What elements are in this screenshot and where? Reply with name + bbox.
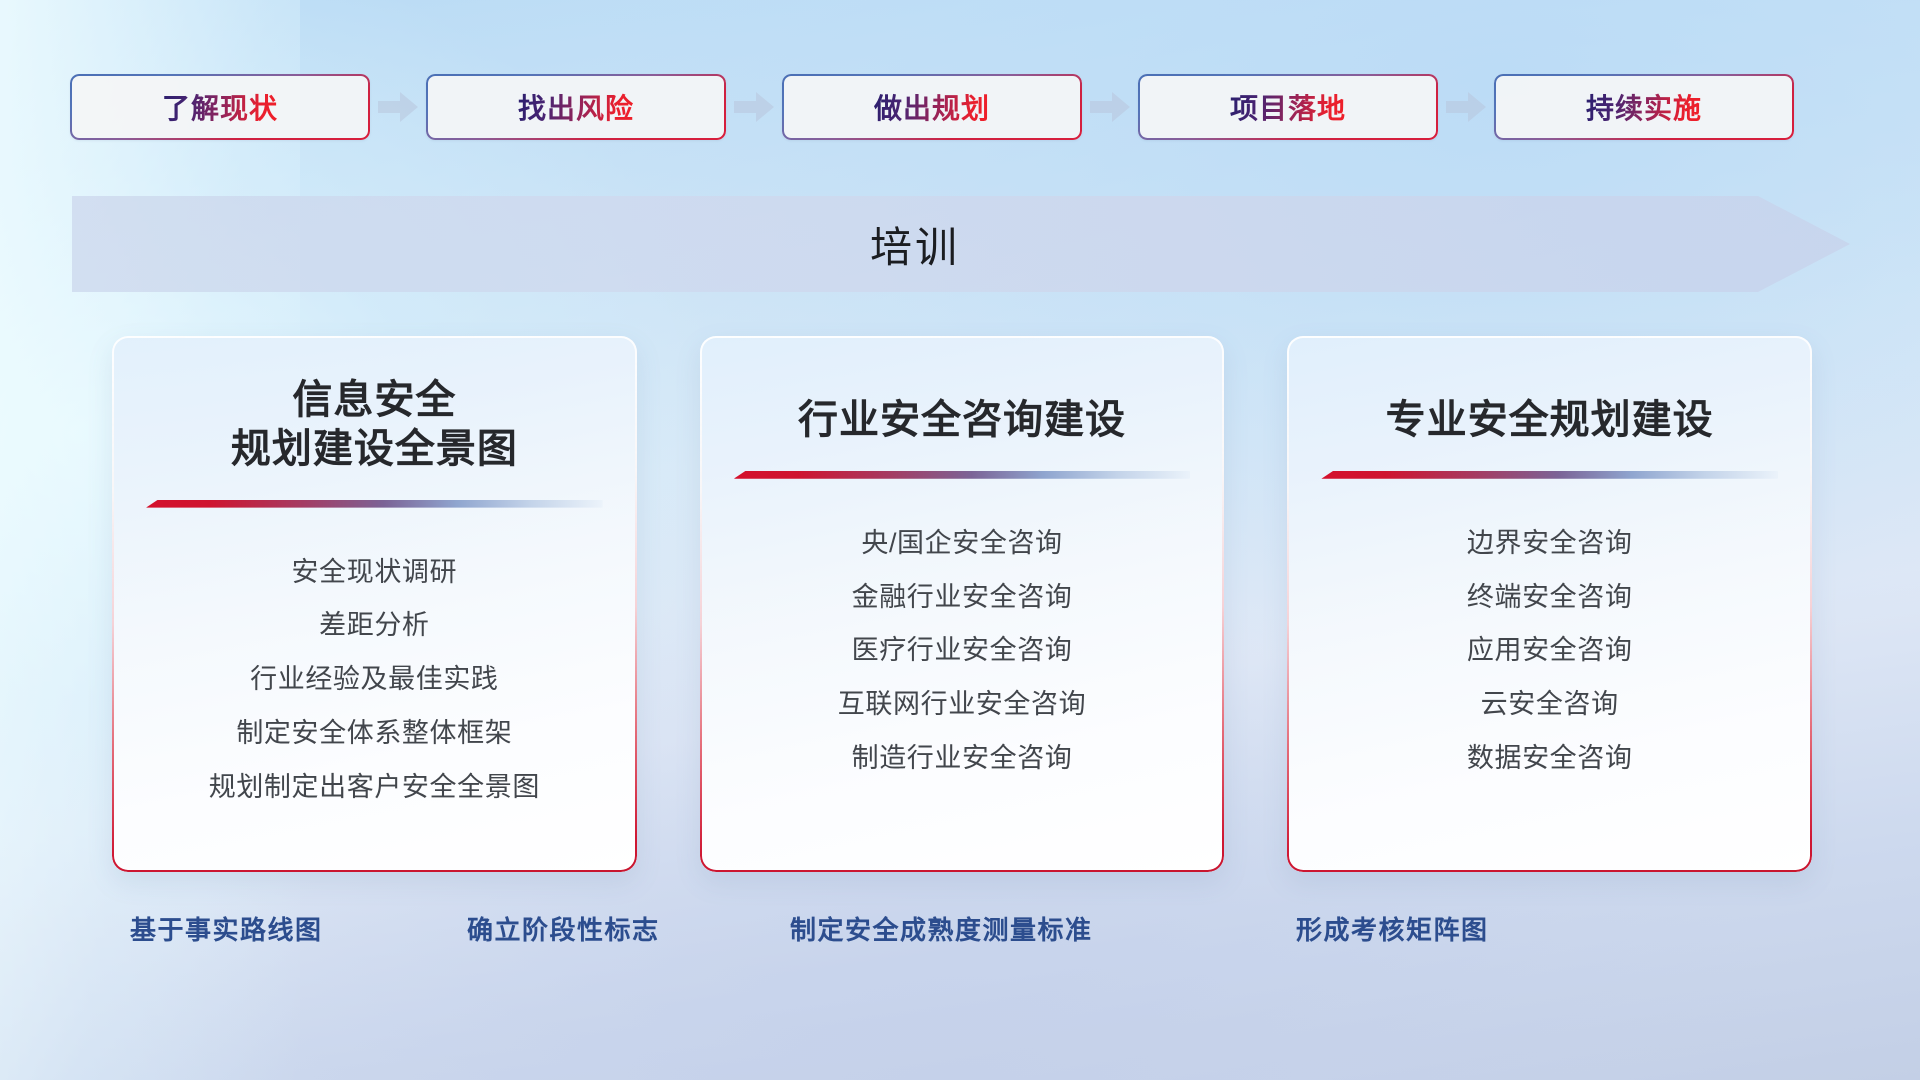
list-item: 云安全咨询	[1481, 684, 1619, 726]
step-box-4[interactable]: 项目落地	[1138, 74, 1438, 140]
card-title: 信息安全 规划建设全景图	[231, 376, 518, 474]
step-label: 持续实施	[1586, 87, 1702, 127]
training-banner: 培训	[72, 196, 1850, 292]
card-row: 信息安全 规划建设全景图 安全现状调研 差距分析 行业经验及最佳实践 制定安全体…	[112, 336, 1812, 872]
list-item: 制造行业安全咨询	[852, 738, 1073, 780]
card-divider	[1321, 471, 1778, 479]
list-item: 终端安全咨询	[1467, 577, 1633, 619]
card-item-list: 安全现状调研 差距分析 行业经验及最佳实践 制定安全体系整体框架 规划制定出客户…	[209, 552, 540, 809]
card-title: 专业安全规划建设	[1386, 396, 1714, 445]
step-label: 做出规划	[874, 87, 990, 127]
list-item: 边界安全咨询	[1467, 523, 1633, 565]
card-title: 行业安全咨询建设	[798, 396, 1126, 445]
arrow-right-icon	[370, 92, 426, 122]
footer-label-2: 确立阶段性标志	[467, 910, 660, 947]
card-divider	[734, 471, 1191, 479]
list-item: 差距分析	[319, 605, 429, 647]
step-box-5[interactable]: 持续实施	[1494, 74, 1794, 140]
list-item: 央/国企安全咨询	[861, 523, 1062, 565]
card-item-list: 边界安全咨询 终端安全咨询 应用安全咨询 云安全咨询 数据安全咨询	[1467, 523, 1633, 780]
arrow-right-icon	[1438, 92, 1494, 122]
slide-canvas: 了解现状 找出风险 做出规划 项目落地	[0, 0, 1920, 1080]
footer-label-row: 基于事实路线图 确立阶段性标志 制定安全成熟度测量标准 形成考核矩阵图	[0, 910, 1920, 960]
list-item: 行业经验及最佳实践	[250, 659, 498, 701]
list-item: 规划制定出客户安全全景图	[209, 767, 540, 809]
list-item: 制定安全体系整体框架	[236, 713, 512, 755]
arrow-right-icon	[726, 92, 782, 122]
card-item-list: 央/国企安全咨询 金融行业安全咨询 医疗行业安全咨询 互联网行业安全咨询 制造行…	[838, 523, 1086, 780]
list-item: 数据安全咨询	[1467, 738, 1633, 780]
process-step-row: 了解现状 找出风险 做出规划 项目落地	[70, 74, 1850, 140]
footer-label-3: 制定安全成熟度测量标准	[790, 910, 1093, 947]
list-item: 金融行业安全咨询	[852, 577, 1073, 619]
list-item: 应用安全咨询	[1467, 630, 1633, 672]
list-item: 医疗行业安全咨询	[852, 630, 1073, 672]
footer-label-1: 基于事实路线图	[130, 910, 323, 947]
step-box-3[interactable]: 做出规划	[782, 74, 1082, 140]
list-item: 互联网行业安全咨询	[838, 684, 1086, 726]
list-item: 安全现状调研	[292, 552, 458, 594]
step-label: 了解现状	[162, 87, 278, 127]
step-box-2[interactable]: 找出风险	[426, 74, 726, 140]
banner-title: 培训	[72, 196, 1850, 292]
step-box-1[interactable]: 了解现状	[70, 74, 370, 140]
step-label: 找出风险	[518, 87, 634, 127]
step-label: 项目落地	[1230, 87, 1346, 127]
card-professional-security-planning[interactable]: 专业安全规划建设 边界安全咨询 终端安全咨询 应用安全咨询 云安全咨询 数据安全…	[1287, 336, 1812, 872]
arrow-right-icon	[1082, 92, 1138, 122]
card-industry-security-consulting[interactable]: 行业安全咨询建设 央/国企安全咨询 金融行业安全咨询 医疗行业安全咨询 互联网行…	[700, 336, 1225, 872]
card-divider	[146, 500, 603, 508]
card-information-security-panorama[interactable]: 信息安全 规划建设全景图 安全现状调研 差距分析 行业经验及最佳实践 制定安全体…	[112, 336, 637, 872]
footer-label-4: 形成考核矩阵图	[1296, 910, 1489, 947]
